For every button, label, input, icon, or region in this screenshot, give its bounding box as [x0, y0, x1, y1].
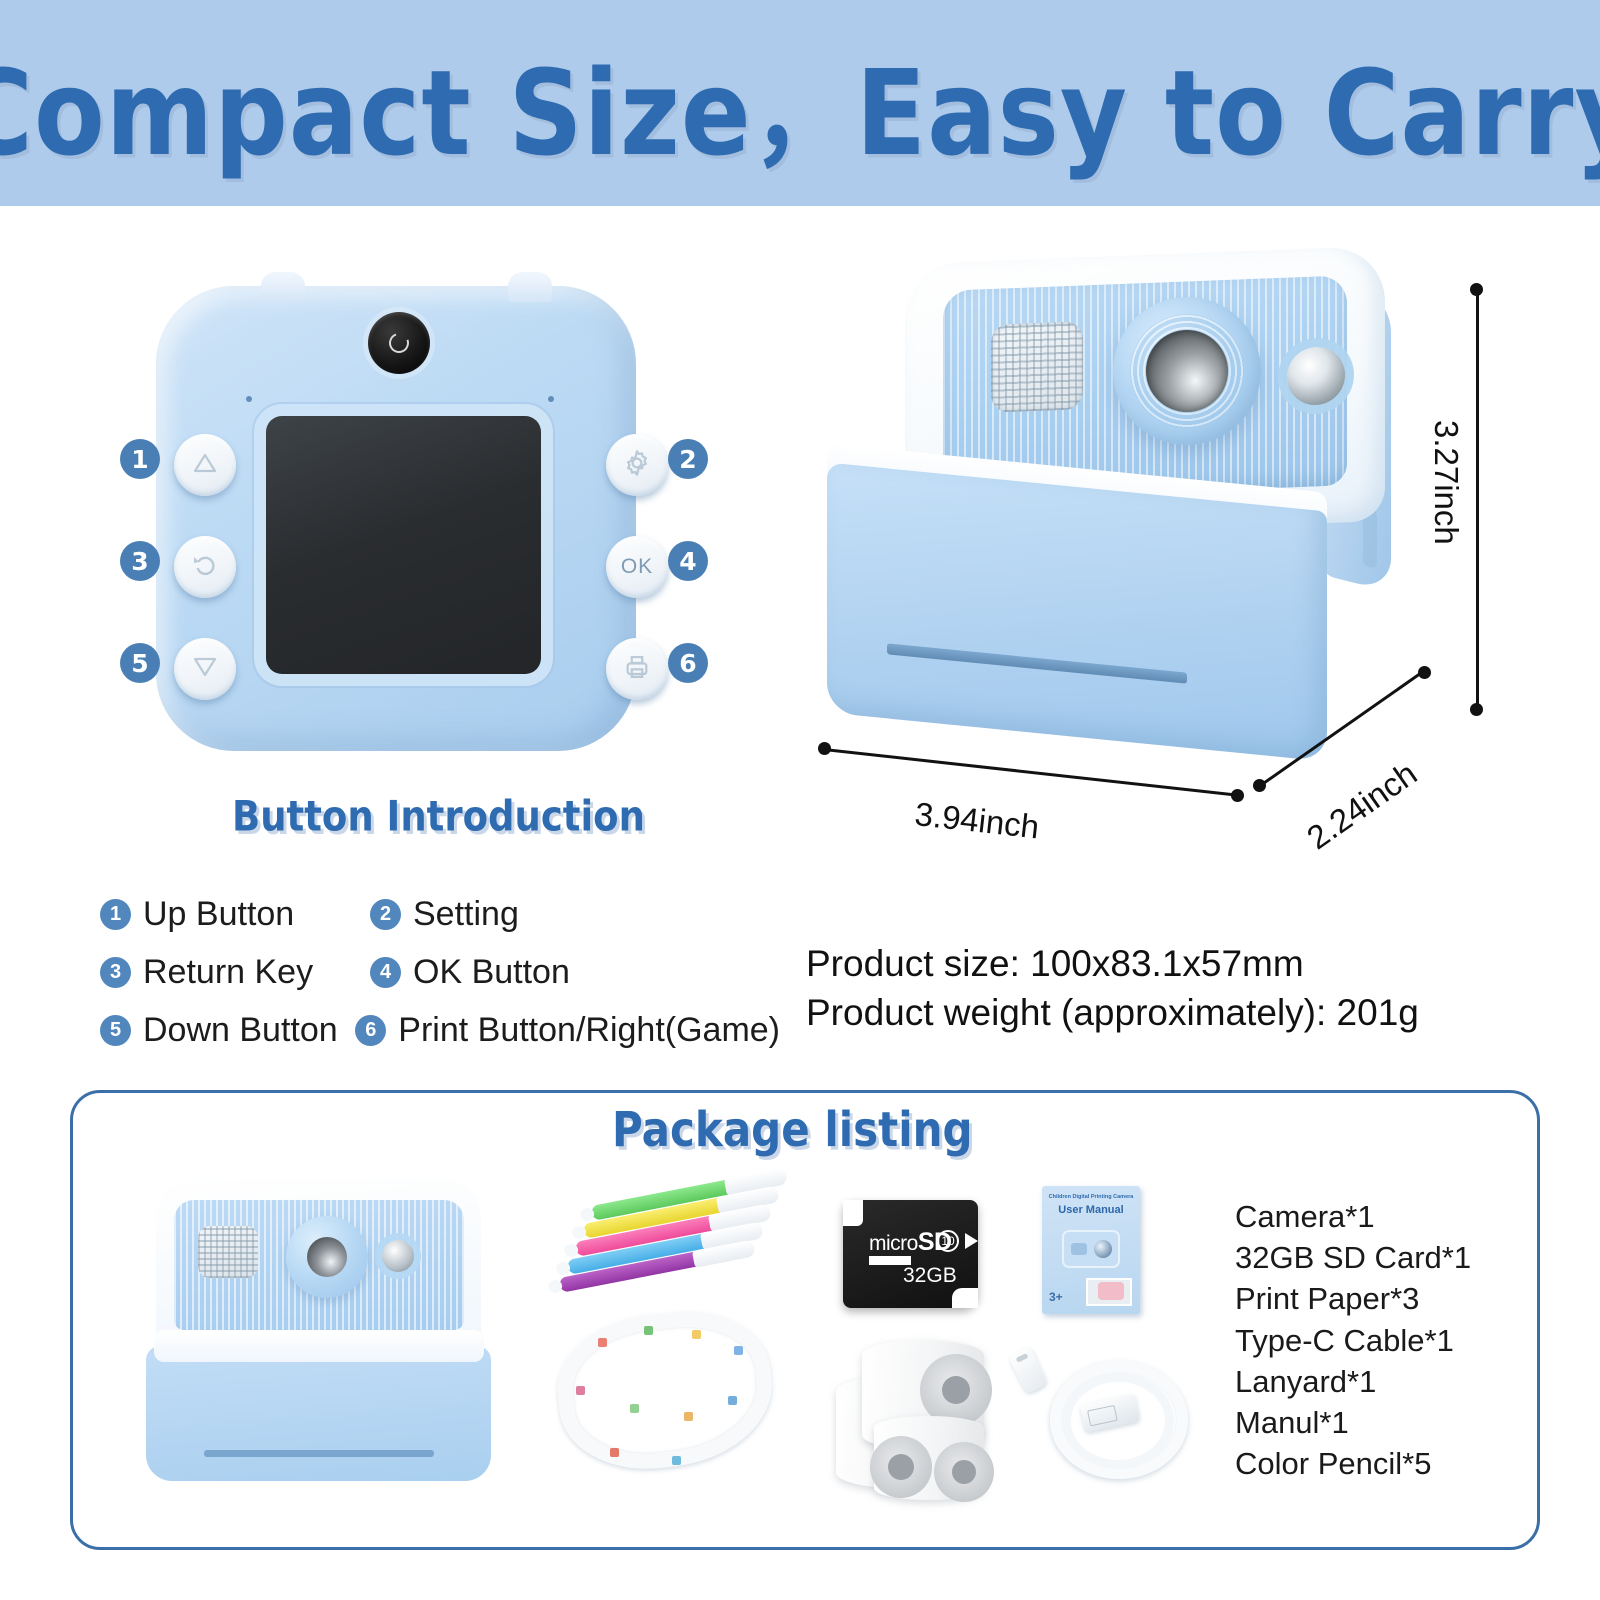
mini-print-slot: [204, 1450, 434, 1457]
callout-badge-1: 1: [120, 439, 160, 479]
package-listing-heading: Package listing: [612, 1102, 973, 1158]
legend-item-2: 2 Setting: [370, 895, 519, 934]
type-c-connector-icon: [1008, 1346, 1048, 1394]
package-item-text: Manul*1: [1235, 1402, 1471, 1443]
legend-label-2: Setting: [413, 895, 519, 934]
dim-line-height: [1476, 289, 1479, 709]
package-item-text: 32GB SD Card*1: [1235, 1237, 1471, 1278]
legend-label-5: Down Button: [143, 1011, 338, 1050]
print-button[interactable]: [606, 638, 668, 700]
lens-glass: [1146, 330, 1228, 412]
legend-row: 3 Return Key 4 OK Button: [100, 943, 780, 1001]
camera-base-body: [827, 462, 1327, 761]
manual-camera-illustration: [1062, 1230, 1120, 1268]
pencil-nub: [579, 1207, 595, 1222]
package-item-manual-image: Children Digital Printing Camera User Ma…: [1042, 1186, 1140, 1314]
legend-badge-1: 1: [100, 899, 131, 930]
lanyard-print-dot: [728, 1396, 737, 1405]
down-button[interactable]: [174, 638, 236, 700]
sd-notch: [843, 1200, 863, 1226]
lanyard-print-dot: [576, 1386, 585, 1395]
infographic-page: Compact Size，Easy to Carry: [0, 0, 1600, 1600]
package-item-color-pencils-image: [556, 1192, 786, 1302]
pencil-nub: [563, 1243, 579, 1258]
callout-badge-3: 3: [120, 541, 160, 581]
legend-label-6: Print Button/Right(Game): [398, 1011, 780, 1050]
indicator-dot-right: [548, 396, 554, 402]
up-button[interactable]: [174, 434, 236, 496]
lanyard-print-dot: [684, 1412, 693, 1421]
legend-item-3: 3 Return Key: [100, 953, 370, 992]
lens-barrel: [1113, 297, 1261, 445]
legend-badge-5: 5: [100, 1015, 131, 1046]
camera-top-knob-right: [508, 272, 552, 302]
button-introduction-heading: Button Introduction: [232, 792, 645, 841]
package-item-text: Color Pencil*5: [1235, 1443, 1471, 1484]
legend-label-1: Up Button: [143, 895, 294, 934]
legend-label-3: Return Key: [143, 953, 313, 992]
page-title: Compact Size，Easy to Carry: [0, 18, 1600, 188]
mini-camera-base: [146, 1346, 491, 1481]
sd-capacity-unit: GB: [926, 1264, 956, 1287]
package-item-sd-card-image: microSD 10 32GB: [843, 1200, 978, 1308]
selfie-lens-icon: [368, 312, 430, 374]
dim-dot-depth-far: [1418, 666, 1431, 679]
legend-item-6: 6 Print Button/Right(Game): [355, 1011, 780, 1050]
lanyard-print-dot: [610, 1448, 619, 1457]
spec-size: Product size: 100x83.1x57mm: [806, 940, 1419, 989]
sd-capacity-number: 32: [903, 1264, 926, 1287]
down-triangle-icon: [190, 652, 220, 687]
lanyard-print-dot: [644, 1326, 653, 1335]
package-items-list: Camera*1 32GB SD Card*1 Print Paper*3 Ty…: [1235, 1196, 1471, 1485]
printer-icon: [623, 653, 651, 686]
package-item-text: Lanyard*1: [1235, 1361, 1471, 1402]
camera-isometric-view: [795, 255, 1435, 775]
dim-dot-width-right: [1231, 789, 1244, 802]
camera-back-view: OK 1 2 3 4 5 6: [128, 276, 728, 766]
legend-item-4: 4 OK Button: [370, 953, 570, 992]
sd-uhs-arrow-icon: [965, 1233, 978, 1249]
legend-item-1: 1 Up Button: [100, 895, 370, 934]
package-item-text: Camera*1: [1235, 1196, 1471, 1237]
package-item-typec-cable-image: [1010, 1345, 1215, 1495]
paper-roll-core: [888, 1454, 914, 1480]
up-triangle-icon: [190, 448, 220, 483]
return-key-button[interactable]: [174, 536, 236, 598]
lcd-screen: [266, 416, 541, 674]
mini-lens-icon: [286, 1216, 368, 1298]
manual-subtitle: Children Digital Printing Camera: [1042, 1194, 1140, 1200]
product-specs: Product size: 100x83.1x57mm Product weig…: [806, 940, 1419, 1038]
indicator-dot-left: [246, 396, 252, 402]
paper-roll-core: [942, 1376, 970, 1404]
legend-label-4: OK Button: [413, 953, 570, 992]
lanyard-print-dot: [598, 1338, 607, 1347]
sd-speed-class-badge: 10: [937, 1230, 959, 1252]
pencil-nub: [555, 1261, 571, 1276]
sd-capacity: 32GB: [903, 1256, 957, 1290]
dim-dot-height-bottom: [1470, 703, 1483, 716]
legend-row: 1 Up Button 2 Setting: [100, 885, 780, 943]
lanyard-print-dot: [734, 1346, 743, 1355]
callout-badge-2: 2: [668, 439, 708, 479]
flash-grid-icon: [991, 321, 1083, 413]
button-legend-list: 1 Up Button 2 Setting 3 Return Key 4 OK …: [100, 885, 780, 1059]
legend-badge-4: 4: [370, 957, 401, 988]
legend-badge-6: 6: [355, 1015, 386, 1046]
manual-age-mark: 3+: [1049, 1290, 1063, 1304]
sd-corner-cut: [952, 1288, 978, 1308]
package-item-text: Type-C Cable*1: [1235, 1320, 1471, 1361]
sd-micro-label: micro: [869, 1232, 918, 1255]
pencil-nub: [571, 1225, 587, 1240]
mini-white-band: [154, 1330, 484, 1362]
manual-title: User Manual: [1042, 1204, 1140, 1216]
callout-badge-5: 5: [120, 643, 160, 683]
ok-button[interactable]: OK: [606, 536, 668, 598]
package-item-text: Print Paper*3: [1235, 1278, 1471, 1319]
mini-sensor-icon: [382, 1240, 414, 1272]
mini-flash-icon: [198, 1226, 258, 1278]
dim-label-width: 3.94inch: [913, 795, 1041, 846]
legend-badge-2: 2: [370, 899, 401, 930]
legend-item-5: 5 Down Button: [100, 1011, 355, 1050]
paper-roll-core: [952, 1460, 976, 1484]
lanyard-print-dot: [630, 1404, 639, 1413]
camera-back-body: OK: [156, 286, 636, 751]
camera-top-knob-left: [261, 272, 305, 302]
lanyard-print-dot: [692, 1330, 701, 1339]
header-banner: Compact Size，Easy to Carry: [0, 0, 1600, 206]
dim-label-height: 3.27inch: [1427, 420, 1465, 545]
package-item-lanyard-image: [552, 1300, 802, 1485]
return-arrow-icon: [190, 550, 220, 585]
legend-row: 5 Down Button 6 Print Button/Right(Game): [100, 1001, 780, 1059]
package-item-camera-image: [146, 1178, 491, 1478]
lanyard-print-dot: [672, 1456, 681, 1465]
ok-icon: OK: [621, 555, 653, 579]
setting-button[interactable]: [606, 434, 668, 496]
gear-icon: [622, 448, 652, 483]
spec-weight: Product weight (approximately): 201g: [806, 989, 1419, 1038]
legend-badge-3: 3: [100, 957, 131, 988]
callout-badge-6: 6: [668, 643, 708, 683]
callout-badge-4: 4: [668, 541, 708, 581]
manual-pink-camera-icon: [1098, 1282, 1124, 1300]
